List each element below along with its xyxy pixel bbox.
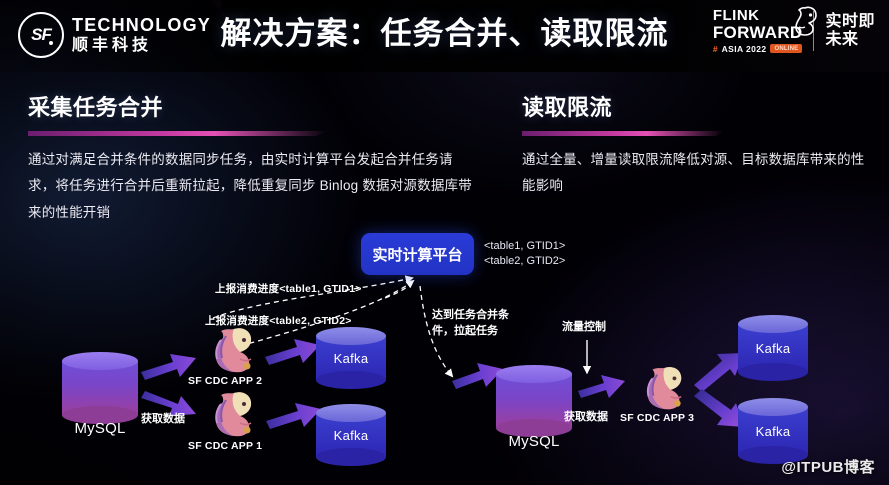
kafka-left-bottom-label: Kafka — [316, 428, 386, 443]
label-merge-trigger: 达到任务合并条件，拉起任务 — [432, 308, 512, 340]
realtime-platform-node[interactable]: 实时计算平台 — [361, 233, 474, 275]
kafka-right-bottom[interactable]: Kafka — [738, 398, 808, 464]
kafka-right-top-label: Kafka — [738, 341, 808, 356]
kafka-right-top[interactable]: Kafka — [738, 315, 808, 381]
section-task-merge: 采集任务合并 通过对满足合并条件的数据同步任务，由实时计算平台发起合并任务请求，… — [28, 90, 478, 226]
kafka-right-bottom-label: Kafka — [738, 424, 808, 439]
gtid-label-1: <table1, GTID1> — [484, 239, 565, 254]
section-accent-bar — [522, 131, 724, 136]
mysql-db-left[interactable] — [62, 352, 138, 424]
flink-forward-badge: ONLINE — [770, 44, 802, 53]
mysql-db-left-label: MySQL — [62, 420, 138, 437]
kafka-left-bottom[interactable]: Kafka — [316, 404, 386, 466]
mysql-db-right-label: MySQL — [496, 433, 572, 450]
slide-header: SF TECHNOLOGY 顺丰科技 解决方案：任务合并、读取限流 FLINK … — [0, 0, 889, 72]
section-read-rate-limit: 读取限流 通过全量、增量读取限流降低对源、目标数据库带来的性能影响 — [522, 90, 872, 200]
section-heading: 读取限流 — [522, 90, 872, 122]
hash-icon: # — [713, 44, 718, 54]
section-body-text: 通过对满足合并条件的数据同步任务，由实时计算平台发起合并任务请求，将任务进行合并… — [28, 147, 478, 226]
label-fetch-data-right: 获取数据 — [564, 410, 608, 426]
label-fetch-data-left: 获取数据 — [141, 412, 185, 428]
watermark: @ITPUB博客 — [781, 456, 875, 477]
sf-cdc-app2-icon[interactable] — [200, 326, 262, 374]
gtid-label-group: <table1, GTID1> <table2, GTID2> — [484, 239, 565, 269]
section-heading: 采集任务合并 — [28, 90, 478, 122]
gtid-label-2: <table2, GTID2> — [484, 254, 565, 269]
sf-cdc-app1-label: SF CDC APP 1 — [188, 440, 262, 452]
slide-root: SF TECHNOLOGY 顺丰科技 解决方案：任务合并、读取限流 FLINK … — [0, 0, 889, 485]
section-accent-bar — [28, 131, 328, 136]
kafka-left-top-label: Kafka — [316, 351, 386, 366]
label-report-progress-1: 上报消费进度<table1, GTID1> — [215, 281, 362, 296]
section-body-text: 通过全量、增量读取限流降低对源、目标数据库带来的性能影响 — [522, 147, 872, 200]
mysql-db-right[interactable] — [496, 365, 572, 437]
sf-cdc-app2-label: SF CDC APP 2 — [188, 375, 262, 387]
flink-squirrel-icon — [785, 5, 819, 37]
sf-cdc-app3-icon[interactable] — [632, 365, 692, 411]
flink-forward-logo: FLINK FORWARD # ASIA 2022 ONLINE 实时即 未来 — [713, 8, 875, 54]
event-slogan: 实时即 未来 — [825, 13, 875, 48]
event-slogan-line2: 未来 — [825, 31, 875, 49]
event-slogan-line1: 实时即 — [825, 13, 875, 31]
sf-cdc-app3-label: SF CDC APP 3 — [620, 412, 694, 424]
sf-cdc-app1-icon[interactable] — [200, 390, 262, 438]
flink-forward-asia: ASIA 2022 — [722, 44, 767, 54]
kafka-left-top[interactable]: Kafka — [316, 327, 386, 389]
label-rate-limit: 流量控制 — [562, 320, 606, 336]
